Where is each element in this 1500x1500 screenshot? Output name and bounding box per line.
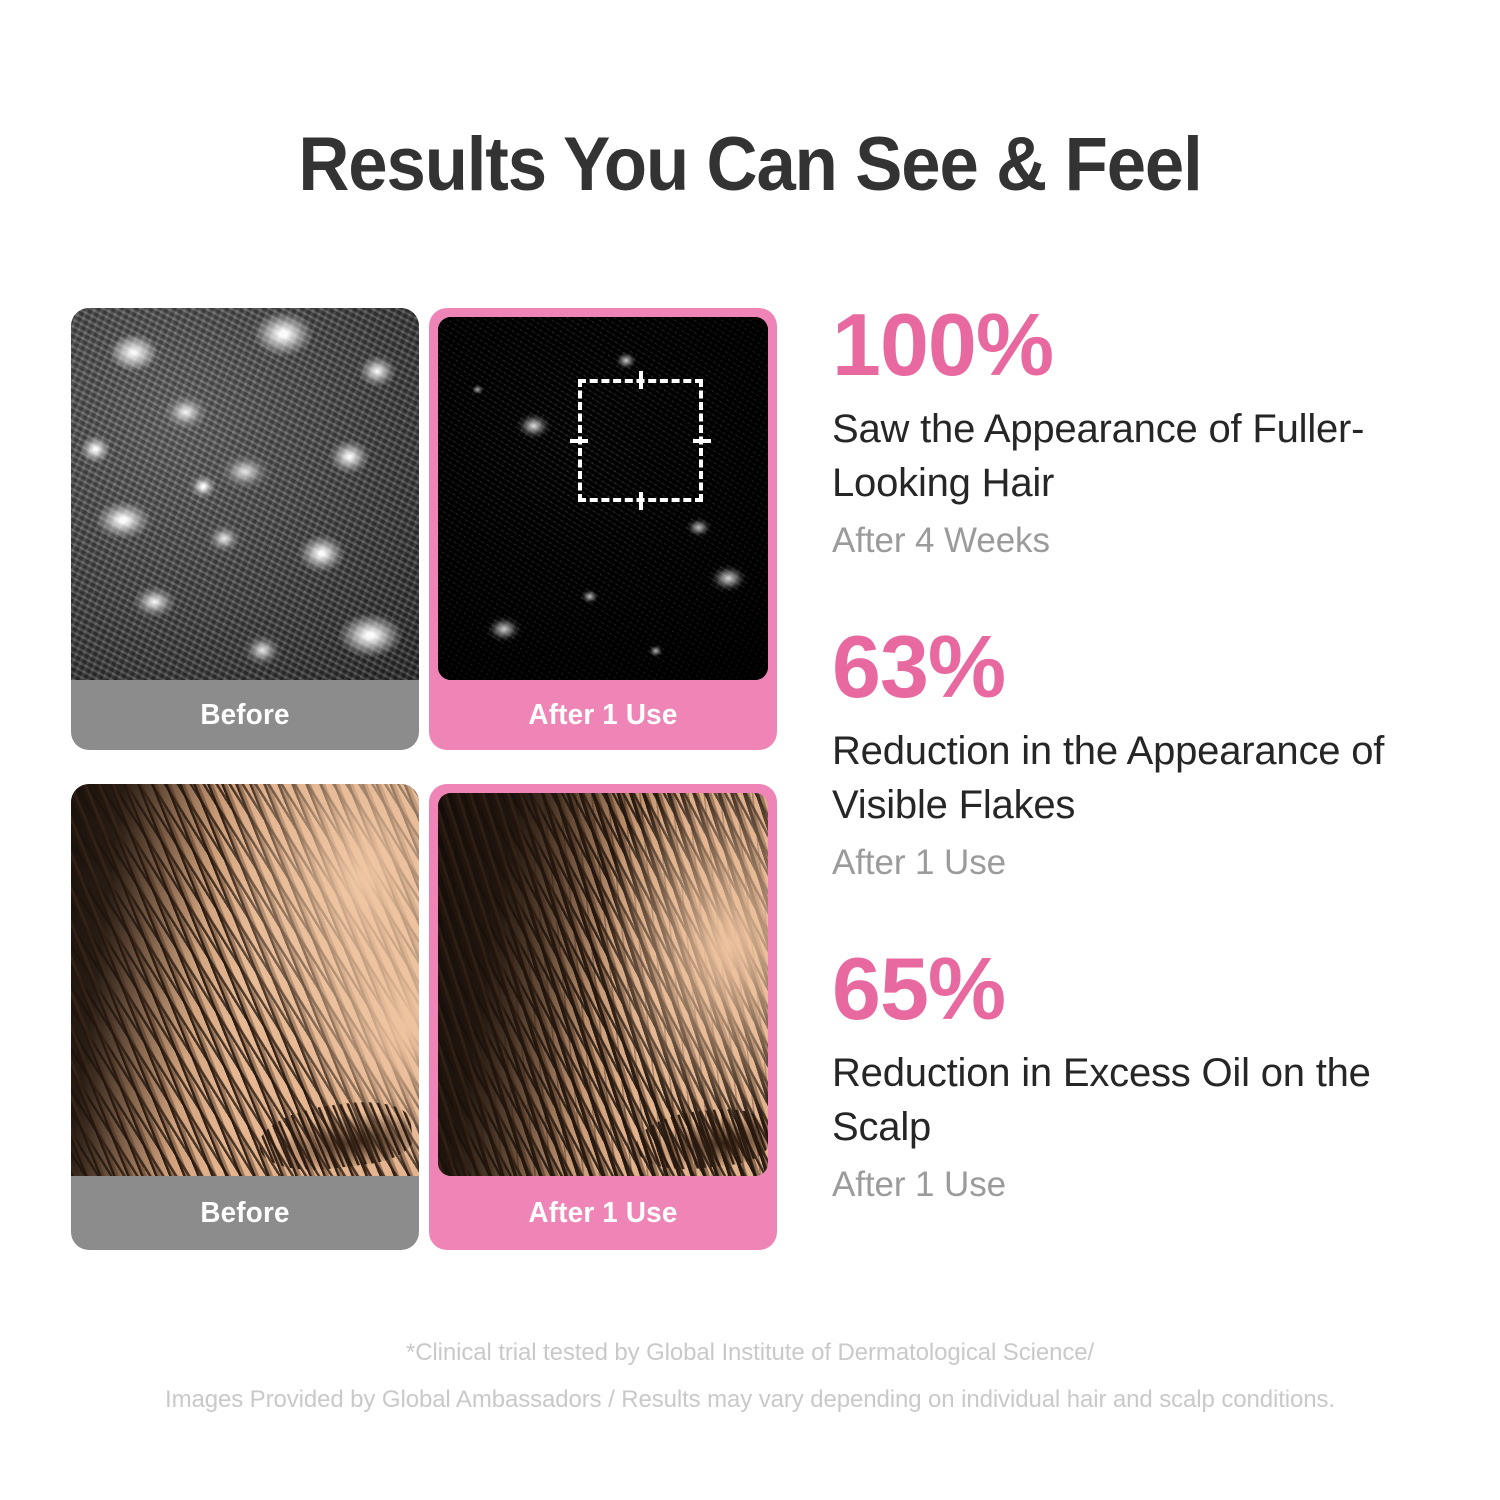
before-after-gallery: Before After 1 Use <box>71 308 783 1250</box>
stat-timeframe: After 4 Weeks <box>832 517 1460 565</box>
marquee-handle-bottom-icon[interactable] <box>639 492 643 510</box>
footnote-line-1: *Clinical trial tested by Global Institu… <box>0 1330 1500 1377</box>
before-after-card-before[interactable]: Before <box>71 784 419 1250</box>
marquee-handle-right-icon[interactable] <box>693 439 711 443</box>
hairline-before-image <box>71 784 419 1176</box>
card-caption: After 1 Use <box>436 680 770 750</box>
card-caption: After 1 Use <box>436 1176 770 1250</box>
statistics-list: 100% Saw the Appearance of Fuller-Lookin… <box>832 300 1460 1208</box>
stat-timeframe: After 1 Use <box>832 1161 1460 1209</box>
marquee-handle-top-icon[interactable] <box>639 371 643 389</box>
stat-timeframe: After 1 Use <box>832 839 1460 887</box>
before-after-card-before[interactable]: Before <box>71 308 419 750</box>
scalp-microscopy-before-image <box>71 308 419 680</box>
stat-headline: Saw the Appearance of Fuller-Looking Hai… <box>832 402 1460 511</box>
stat-item: 100% Saw the Appearance of Fuller-Lookin… <box>832 300 1460 564</box>
selection-marquee[interactable] <box>578 379 703 502</box>
card-image-window <box>438 317 768 680</box>
marquee-handle-left-icon[interactable] <box>570 439 588 443</box>
stat-value: 100% <box>832 300 1460 390</box>
before-after-card-after[interactable]: After 1 Use <box>429 784 777 1250</box>
before-after-card-after[interactable]: After 1 Use <box>429 308 777 750</box>
marquee-frame <box>578 379 703 502</box>
stat-value: 63% <box>832 622 1460 712</box>
card-image-window <box>438 793 768 1176</box>
stat-item: 63% Reduction in the Appearance of Visib… <box>832 622 1460 886</box>
results-infographic: Results You Can See & Feel Before <box>0 0 1500 1500</box>
page-title: Results You Can See & Feel <box>53 122 1448 207</box>
stat-headline: Reduction in the Appearance of Visible F… <box>832 724 1460 833</box>
stat-item: 65% Reduction in Excess Oil on the Scalp… <box>832 944 1460 1208</box>
stat-headline: Reduction in Excess Oil on the Scalp <box>832 1046 1460 1155</box>
card-image-window <box>71 308 419 680</box>
card-caption: Before <box>78 1176 412 1250</box>
card-image-window <box>71 784 419 1176</box>
footnote: *Clinical trial tested by Global Institu… <box>0 1330 1500 1424</box>
footnote-line-2: Images Provided by Global Ambassadors / … <box>0 1377 1500 1424</box>
stat-value: 65% <box>832 944 1460 1034</box>
card-caption: Before <box>78 680 412 750</box>
hairline-after-image <box>438 793 768 1176</box>
